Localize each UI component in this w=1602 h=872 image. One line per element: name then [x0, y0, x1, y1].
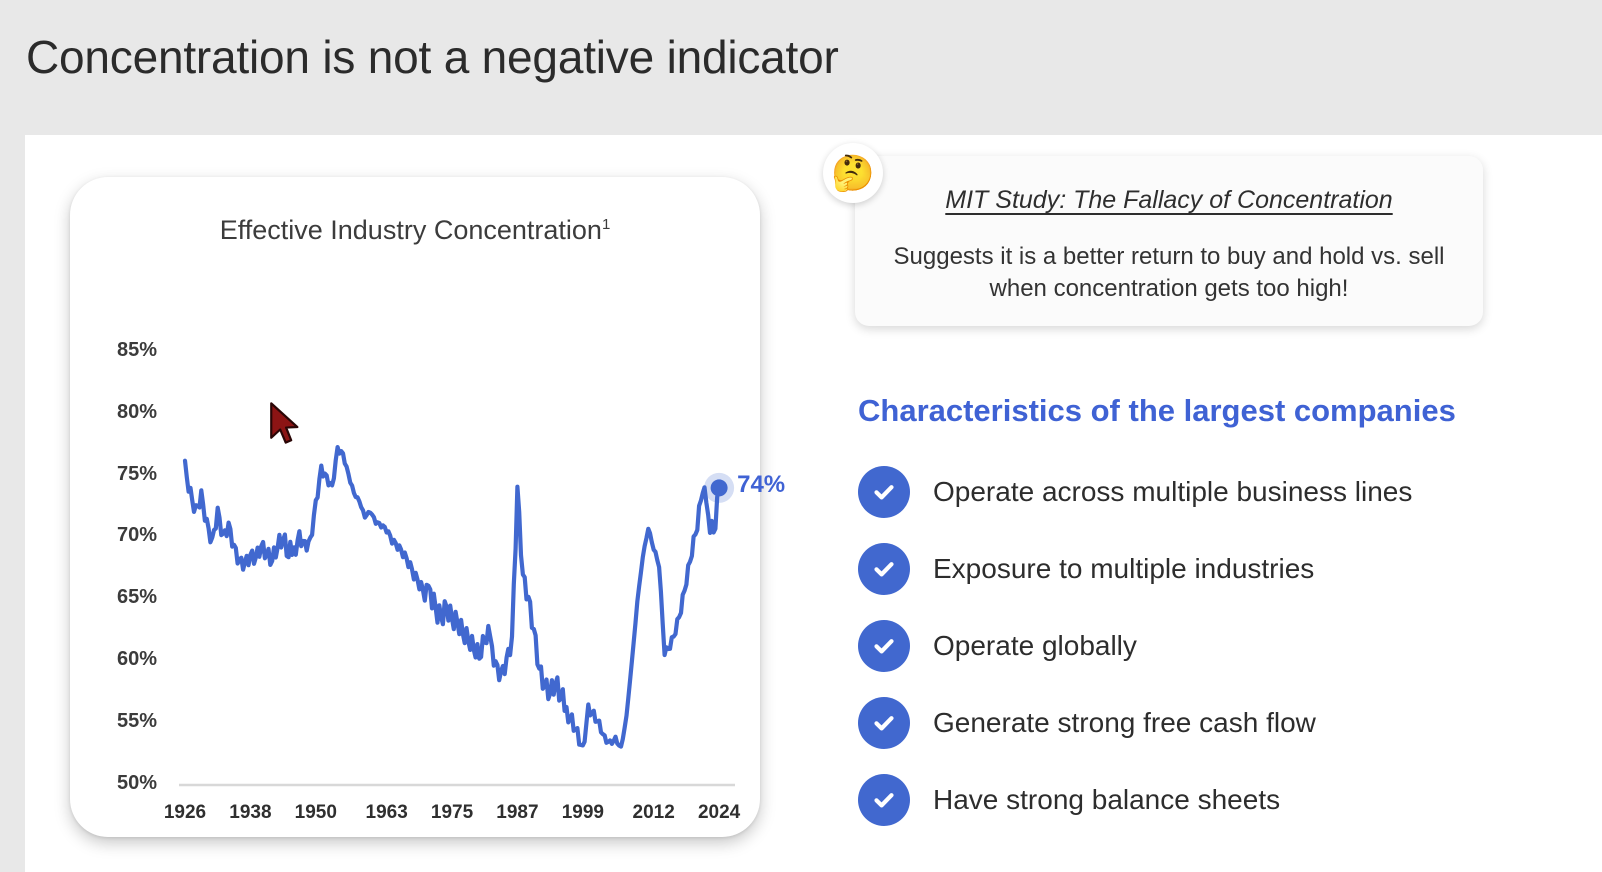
- y-tick-label: 50%: [95, 772, 157, 795]
- characteristic-item: Exposure to multiple industries: [858, 530, 1578, 607]
- x-tick-label: 1950: [281, 802, 351, 824]
- check-circle-icon: [858, 774, 910, 826]
- y-tick-label: 65%: [95, 586, 157, 609]
- x-tick-label: 1926: [150, 802, 220, 824]
- characteristics-heading: Characteristics of the largest companies: [858, 393, 1456, 429]
- characteristic-item: Operate globally: [858, 607, 1578, 684]
- endpoint-value-label: 74%: [737, 471, 785, 499]
- x-tick-label: 1987: [482, 802, 552, 824]
- check-circle-icon: [858, 543, 910, 595]
- slide-root: Concentration is not a negative indicato…: [0, 0, 1602, 872]
- check-circle-icon: [858, 620, 910, 672]
- y-tick-label: 70%: [95, 524, 157, 547]
- chart-plot-area: 85%80%75%70%65%60%55%50% 192619381950196…: [70, 177, 760, 837]
- left-gutter-strip: [0, 135, 25, 872]
- characteristic-label: Generate strong free cash flow: [933, 707, 1316, 739]
- mit-study-title[interactable]: MIT Study: The Fallacy of Concentration: [855, 186, 1483, 215]
- mit-study-card: MIT Study: The Fallacy of Concentration …: [855, 156, 1483, 326]
- x-tick-label: 2012: [619, 802, 689, 824]
- x-tick-label: 1938: [215, 802, 285, 824]
- characteristic-label: Exposure to multiple industries: [933, 553, 1314, 585]
- x-tick-label: 1999: [548, 802, 618, 824]
- x-tick-label: 1975: [417, 802, 487, 824]
- characteristic-label: Have strong balance sheets: [933, 784, 1280, 816]
- characteristics-list: Operate across multiple business linesEx…: [858, 453, 1578, 838]
- y-tick-label: 55%: [95, 710, 157, 733]
- characteristic-label: Operate globally: [933, 630, 1137, 662]
- chart-line-series: [185, 447, 719, 746]
- check-circle-icon: [858, 466, 910, 518]
- y-tick-label: 85%: [95, 339, 157, 362]
- y-tick-label: 80%: [95, 401, 157, 424]
- endpoint-marker: [711, 479, 728, 496]
- y-tick-label: 75%: [95, 463, 157, 486]
- thinking-face-icon: 🤔: [823, 143, 883, 203]
- mit-study-body: Suggests it is a better return to buy an…: [879, 241, 1459, 305]
- line-chart: [70, 177, 760, 837]
- page-title: Concentration is not a negative indicato…: [26, 30, 839, 84]
- chart-card: Effective Industry Concentration1 85%80%…: [70, 177, 760, 837]
- characteristic-item: Operate across multiple business lines: [858, 453, 1578, 530]
- check-circle-icon: [858, 697, 910, 749]
- characteristic-item: Have strong balance sheets: [858, 761, 1578, 838]
- y-tick-label: 60%: [95, 648, 157, 671]
- characteristic-label: Operate across multiple business lines: [933, 476, 1412, 508]
- characteristic-item: Generate strong free cash flow: [858, 684, 1578, 761]
- x-tick-label: 1963: [352, 802, 422, 824]
- slide-content: Effective Industry Concentration1 85%80%…: [25, 135, 1602, 872]
- x-tick-label: 2024: [684, 802, 754, 824]
